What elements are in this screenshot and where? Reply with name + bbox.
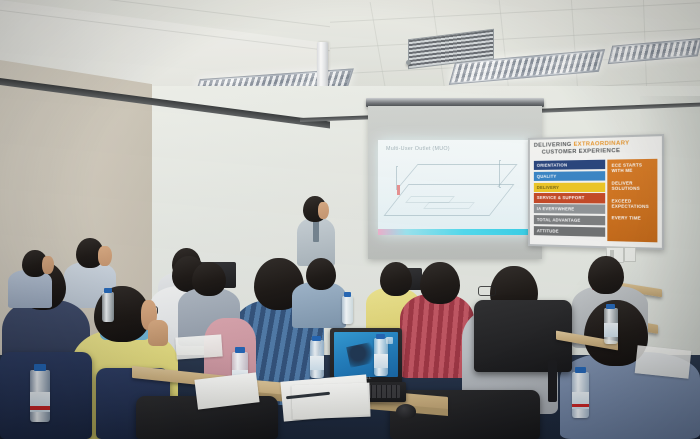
bottle-cap (312, 336, 321, 341)
water-bottle-laptop-side[interactable] (374, 338, 388, 376)
handout-papers-far-right[interactable] (635, 345, 692, 378)
handout-papers-center-2[interactable] (291, 383, 370, 420)
glasses-icon-right (478, 286, 496, 296)
poster-right-item: DELIVER SOLUTIONS (612, 180, 656, 192)
poster-right-item: EXCEED EXPECTATIONS (612, 198, 656, 210)
sprinkler-icon (406, 60, 411, 65)
slide-accent-band (378, 229, 534, 235)
water-bottle-far-right[interactable] (604, 308, 618, 344)
poster-heading-highlight: EXTRAORDINARY (574, 140, 630, 148)
audience-head-far-right (588, 256, 624, 294)
poster-bar: DELIVERY (534, 182, 605, 192)
poster-right-item: ECE STARTS WITH ME (612, 162, 656, 174)
projected-slide: Multi-User Outlet (MUO) (378, 140, 534, 235)
bottle-label (374, 354, 388, 368)
poster-left-bars: ORIENTATION QUALITY DELIVERY SERVICE & S… (534, 160, 605, 239)
bottle-cap (575, 367, 586, 373)
poster-right-item: EVERY TIME (612, 215, 656, 221)
slide-diagram-row2 (423, 202, 475, 209)
poster-bar: ATTITUDE (534, 226, 605, 237)
bottle-cap (34, 364, 46, 371)
audience-head-yellow-mid (380, 262, 412, 296)
water-bottle-right[interactable] (572, 372, 589, 418)
bottle-label-accent (572, 404, 589, 407)
bottle-label (604, 323, 618, 337)
bottle-label-accent (30, 406, 50, 410)
audience-head-grey-mid (192, 262, 226, 296)
presenter-tie (313, 220, 319, 242)
wall-outlet[interactable] (624, 247, 636, 262)
slide-diagram-wall-right (499, 160, 501, 188)
laptop-screen[interactable] (334, 332, 398, 377)
computer-mouse[interactable] (396, 404, 416, 419)
wall-poster: DELIVERING EXTRAORDINARY CUSTOMER EXPERI… (528, 134, 664, 250)
water-bottle-mid[interactable] (342, 296, 353, 324)
slide-title: Multi-User Outlet (MUO) (386, 146, 450, 152)
bottle-label (310, 356, 324, 370)
meeting-room-photo: Multi-User Outlet (MUO) DELIVERING EXTRA… (0, 0, 700, 439)
bottle-cap (344, 292, 351, 297)
chair-leg-right (548, 360, 557, 402)
bottle-cap (376, 334, 385, 339)
poster-bar: SERVICE & SUPPORT (534, 193, 605, 203)
bottle-cap (104, 288, 112, 293)
hand-on-chin (148, 320, 168, 346)
audience-head-red-striped (420, 262, 460, 304)
slide-diagram-highlight (397, 185, 400, 195)
presenter-face (318, 202, 329, 219)
poster-right-panel: ECE STARTS WITH ME DELIVER SOLUTIONS EXC… (607, 159, 657, 243)
poster-heading-text-a: DELIVERING (534, 142, 574, 149)
poster-heading-line2: CUSTOMER EXPERIENCE (534, 147, 658, 157)
audience-face-back-left-a (98, 246, 112, 266)
audience-face-upper-left (42, 256, 54, 274)
projection-screen: Multi-User Outlet (MUO) (368, 106, 542, 259)
audience-head-blue-mid (306, 258, 336, 290)
water-bottle-left[interactable] (30, 370, 50, 422)
poster-bar: IA EVERYWHERE (534, 204, 605, 214)
water-bottle-center-2[interactable] (310, 340, 324, 378)
handout-papers-right[interactable] (175, 334, 222, 359)
bottle-cap (606, 304, 615, 309)
poster-heading: DELIVERING EXTRAORDINARY CUSTOMER EXPERI… (534, 140, 658, 159)
poster-bar: QUALITY (534, 171, 605, 181)
bottle-cap (235, 347, 245, 353)
poster-bar: ORIENTATION (534, 160, 605, 170)
water-bottle-back-left[interactable] (102, 292, 114, 322)
poster-bar: TOTAL ADVANTAGE (534, 215, 605, 225)
